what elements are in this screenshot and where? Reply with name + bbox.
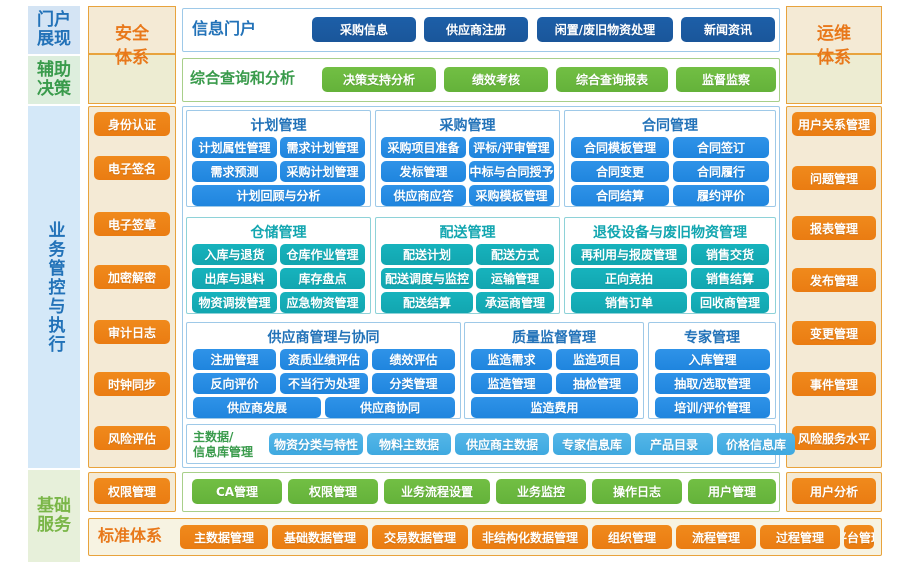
card-delivery-item-4[interactable]: 配送结算: [381, 292, 473, 313]
card-quality-item-3[interactable]: 抽检管理: [556, 373, 638, 394]
standard-button-1[interactable]: 基础数据管理: [272, 525, 368, 549]
card-contract-item-2[interactable]: 合同变更: [571, 161, 669, 182]
standard-row-title: 标准体系: [98, 527, 162, 545]
card-warehouse-item-5[interactable]: 应急物资管理: [280, 292, 365, 313]
security-item-0[interactable]: 身份认证: [94, 112, 170, 136]
card-supplier-item-7[interactable]: 供应商协同: [325, 397, 455, 418]
portal-button-3[interactable]: 新闻资讯: [681, 17, 775, 42]
masterdata-item-0[interactable]: 物资分类与特性: [269, 433, 363, 455]
security-item-3[interactable]: 加密解密: [94, 265, 170, 289]
baseservice-button-3[interactable]: 业务监控: [496, 479, 586, 504]
card-supplier-item-3[interactable]: 反向评价: [193, 373, 276, 394]
card-warehouse-item-2[interactable]: 出库与退料: [192, 268, 277, 289]
card-warehouse: 仓储管理 入库与退货 仓库作业管理 出库与退料 库存盘点 物资调拨管理 应急物资…: [186, 217, 371, 314]
card-supplier-title: 供应商管理与协同: [187, 327, 460, 347]
security-item-permission[interactable]: 权限管理: [94, 478, 170, 504]
card-quality-title: 质量监督管理: [465, 327, 643, 347]
card-expert-item-0[interactable]: 入库管理: [655, 349, 770, 370]
decision-button-0[interactable]: 决策支持分析: [322, 67, 436, 92]
card-supplier-item-5[interactable]: 分类管理: [372, 373, 455, 394]
card-purchase: 采购管理 采购项目准备 评标/评审管理 发标管理 中标与合同授予 供应商应答 采…: [375, 110, 560, 207]
card-supplier-item-0[interactable]: 注册管理: [193, 349, 276, 370]
security-item-2[interactable]: 电子签章: [94, 212, 170, 236]
card-purchase-item-0[interactable]: 采购项目准备: [381, 137, 466, 158]
card-expert-item-1[interactable]: 抽取/选取管理: [655, 373, 770, 394]
decision-row-title: 综合查询和分析: [190, 70, 295, 87]
standard-button-4[interactable]: 组织管理: [592, 525, 672, 549]
ops-item-2[interactable]: 报表管理: [792, 216, 876, 240]
ops-item-user-analysis[interactable]: 用户分析: [792, 478, 876, 504]
ops-item-3[interactable]: 发布管理: [792, 268, 876, 292]
ops-item-0[interactable]: 用户关系管理: [792, 112, 876, 136]
baseservice-button-4[interactable]: 操作日志: [592, 479, 682, 504]
card-quality-item-2[interactable]: 监造管理: [471, 373, 552, 394]
security-item-1[interactable]: 电子签名: [94, 156, 170, 180]
card-contract-item-4[interactable]: 合同结算: [571, 185, 669, 206]
decision-button-3[interactable]: 监督监察: [676, 67, 776, 92]
card-purchase-item-3[interactable]: 中标与合同授予: [469, 161, 554, 182]
ops-item-6[interactable]: 风险服务水平: [792, 426, 876, 450]
card-expert-item-2[interactable]: 培训/评价管理: [655, 397, 770, 418]
card-retire-item-0[interactable]: 再利用与报废管理: [571, 244, 687, 265]
ops-item-5[interactable]: 事件管理: [792, 372, 876, 396]
card-retire-item-2[interactable]: 正向竞拍: [571, 268, 687, 289]
security-band-label-a: 安全: [115, 25, 149, 45]
ops-band-mid: 体系: [786, 54, 882, 104]
standard-button-3[interactable]: 非结构化数据管理: [472, 525, 588, 549]
card-retire-item-3[interactable]: 销售结算: [691, 268, 769, 289]
portal-button-0[interactable]: 采购信息: [312, 17, 416, 42]
decision-button-2[interactable]: 综合查询报表: [556, 67, 668, 92]
ops-band-label-a: 运维: [817, 25, 851, 45]
portal-row-title: 信息门户: [192, 20, 256, 38]
card-contract: 合同管理 合同模板管理 合同签订 合同变更 合同履行 合同结算 履约评价: [564, 110, 776, 207]
baseservice-button-0[interactable]: CA管理: [192, 479, 282, 504]
card-delivery-item-5[interactable]: 承运商管理: [476, 292, 554, 313]
card-contract-title: 合同管理: [565, 115, 775, 135]
card-quality: 质量监督管理 监造需求 监造项目 监造管理 抽检管理 监造费用: [464, 322, 644, 419]
card-quality-item-4[interactable]: 监造费用: [471, 397, 638, 418]
standard-button-7[interactable]: 平台管理: [844, 525, 874, 549]
card-delivery-item-0[interactable]: 配送计划: [381, 244, 473, 265]
card-supplier-item-6[interactable]: 供应商发展: [193, 397, 321, 418]
standard-button-6[interactable]: 过程管理: [760, 525, 840, 549]
standard-button-5[interactable]: 流程管理: [676, 525, 756, 549]
masterdata-item-2[interactable]: 供应商主数据: [455, 433, 549, 455]
card-expert-title: 专家管理: [649, 327, 775, 347]
card-masterdata: 主数据/ 信息库管理 物资分类与特性 物料主数据 供应商主数据 专家信息库 产品…: [186, 424, 776, 464]
layer-label-decision-text: 辅助 决策: [37, 61, 71, 99]
card-delivery-item-3[interactable]: 运输管理: [476, 268, 554, 289]
masterdata-item-4[interactable]: 产品目录: [635, 433, 713, 455]
baseservice-button-5[interactable]: 用户管理: [688, 479, 776, 504]
card-supplier-item-4[interactable]: 不当行为处理: [280, 373, 368, 394]
decision-button-1[interactable]: 绩效考核: [444, 67, 548, 92]
layer-label-base: 基础 服务: [28, 470, 80, 562]
security-item-6[interactable]: 风险评估: [94, 426, 170, 450]
card-supplier-item-1[interactable]: 资质业绩评估: [280, 349, 368, 370]
card-retire-title: 退役设备与废旧物资管理: [565, 222, 775, 242]
card-plan-item-2[interactable]: 需求预测: [192, 161, 277, 182]
card-contract-item-1[interactable]: 合同签订: [673, 137, 769, 158]
card-retire-item-5[interactable]: 回收商管理: [691, 292, 769, 313]
card-quality-item-0[interactable]: 监造需求: [471, 349, 552, 370]
card-delivery-item-2[interactable]: 配送调度与监控: [381, 268, 473, 289]
card-purchase-item-5[interactable]: 采购模板管理: [469, 185, 554, 206]
card-contract-item-3[interactable]: 合同履行: [673, 161, 769, 182]
masterdata-item-3[interactable]: 专家信息库: [553, 433, 631, 455]
ops-band-top: 运维: [786, 6, 882, 54]
card-supplier-item-2[interactable]: 绩效评估: [372, 349, 455, 370]
card-purchase-item-1[interactable]: 评标/评审管理: [469, 137, 554, 158]
card-warehouse-item-1[interactable]: 仓库作业管理: [280, 244, 365, 265]
security-band-top: 安全: [88, 6, 176, 54]
layer-label-portal: 门户 展现: [28, 6, 80, 54]
card-warehouse-item-3[interactable]: 库存盘点: [280, 268, 365, 289]
card-delivery-item-1[interactable]: 配送方式: [476, 244, 554, 265]
security-item-5[interactable]: 时钟同步: [94, 372, 170, 396]
card-retire-item-1[interactable]: 销售交货: [691, 244, 769, 265]
masterdata-item-1[interactable]: 物料主数据: [367, 433, 451, 455]
baseservice-button-2[interactable]: 业务流程设置: [384, 479, 490, 504]
baseservice-button-1[interactable]: 权限管理: [288, 479, 378, 504]
masterdata-title: 主数据/ 信息库管理: [193, 430, 253, 460]
card-plan-title: 计划管理: [187, 115, 370, 135]
card-expert: 专家管理 入库管理 抽取/选取管理 培训/评价管理: [648, 322, 776, 419]
card-retire: 退役设备与废旧物资管理 再利用与报废管理 销售交货 正向竞拍 销售结算 销售订单…: [564, 217, 776, 314]
card-contract-item-0[interactable]: 合同模板管理: [571, 137, 669, 158]
layer-label-decision: 辅助 决策: [28, 56, 80, 104]
ops-band-label-b: 体系: [817, 49, 851, 69]
portal-button-1[interactable]: 供应商注册: [424, 17, 528, 42]
card-plan-item-3[interactable]: 采购计划管理: [280, 161, 365, 182]
layer-label-business: 业务管控与执行: [28, 106, 80, 468]
layer-label-base-text: 基础 服务: [37, 497, 71, 535]
card-retire-item-4[interactable]: 销售订单: [571, 292, 687, 313]
card-plan-item-0[interactable]: 计划属性管理: [192, 137, 277, 158]
card-warehouse-item-4[interactable]: 物资调拨管理: [192, 292, 277, 313]
card-contract-item-5[interactable]: 履约评价: [673, 185, 769, 206]
ops-item-1[interactable]: 问题管理: [792, 166, 876, 190]
masterdata-item-5[interactable]: 价格信息库: [717, 433, 795, 455]
card-plan-item-1[interactable]: 需求计划管理: [280, 137, 365, 158]
card-supplier: 供应商管理与协同 注册管理 资质业绩评估 绩效评估 反向评价 不当行为处理 分类…: [186, 322, 461, 419]
card-warehouse-title: 仓储管理: [187, 222, 370, 242]
security-band-label-b: 体系: [115, 49, 149, 69]
card-plan: 计划管理 计划属性管理 需求计划管理 需求预测 采购计划管理 计划回顾与分析: [186, 110, 371, 207]
card-delivery: 配送管理 配送计划 配送方式 配送调度与监控 运输管理 配送结算 承运商管理: [375, 217, 560, 314]
card-purchase-title: 采购管理: [376, 115, 559, 135]
card-purchase-item-4[interactable]: 供应商应答: [381, 185, 466, 206]
standard-button-2[interactable]: 交易数据管理: [372, 525, 468, 549]
card-delivery-title: 配送管理: [376, 222, 559, 242]
card-warehouse-item-0[interactable]: 入库与退货: [192, 244, 277, 265]
layer-label-business-text: 业务管控与执行: [44, 221, 63, 354]
security-band-mid: 体系: [88, 54, 176, 104]
card-quality-item-1[interactable]: 监造项目: [556, 349, 638, 370]
ops-item-4[interactable]: 变更管理: [792, 321, 876, 345]
card-plan-item-4[interactable]: 计划回顾与分析: [192, 185, 365, 206]
layer-label-portal-text: 门户 展现: [37, 11, 71, 49]
architecture-diagram: 门户 展现 辅助 决策 业务管控与执行 基础 服务 安全 体系 身份认证 电子签…: [0, 0, 918, 568]
security-item-4[interactable]: 审计日志: [94, 320, 170, 344]
card-purchase-item-2[interactable]: 发标管理: [381, 161, 466, 182]
portal-button-2[interactable]: 闲置/废旧物资处理: [537, 17, 673, 42]
standard-button-0[interactable]: 主数据管理: [180, 525, 268, 549]
